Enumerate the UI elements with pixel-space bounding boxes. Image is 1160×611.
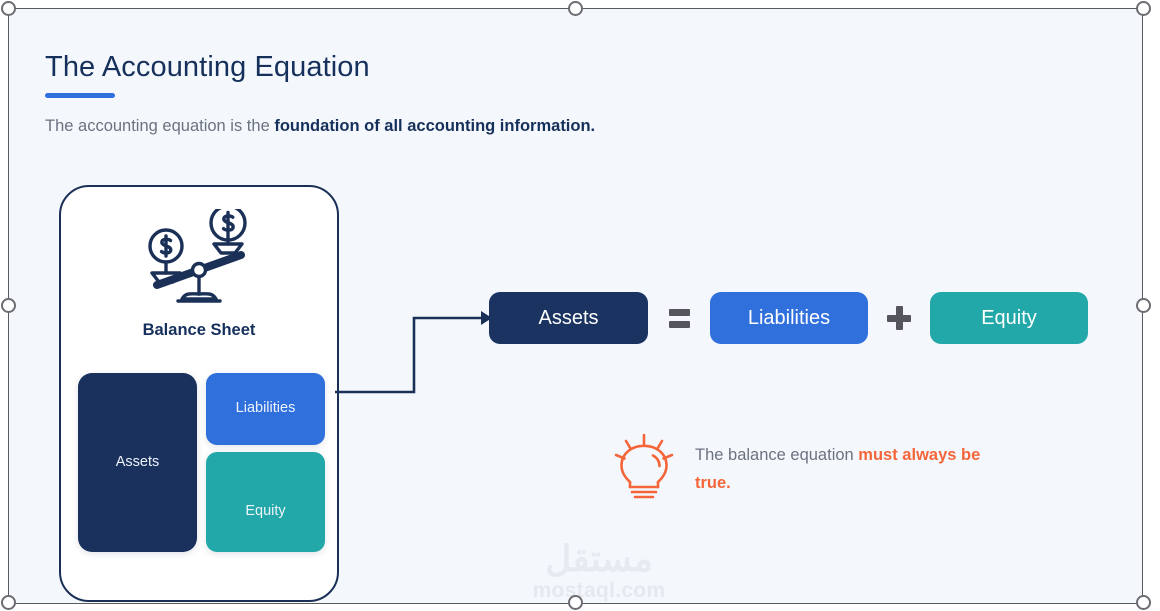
page-title[interactable]: The Accounting Equation <box>45 51 370 84</box>
selection-handle-middle-left[interactable] <box>1 298 16 313</box>
selection-handle-bottom-left[interactable] <box>1 595 16 610</box>
equation-term-assets-label: Assets <box>538 307 598 330</box>
balance-box-assets[interactable]: Assets <box>78 373 197 552</box>
subtitle-plain-text: The accounting equation is the <box>45 117 274 135</box>
balance-box-equity-label: Equity <box>245 503 285 519</box>
subtitle-bold-text: foundation of all accounting information… <box>274 117 595 135</box>
equation-term-equity[interactable]: Equity <box>930 292 1088 344</box>
subtitle[interactable]: The accounting equation is the foundatio… <box>45 117 595 136</box>
balance-scale-coins-icon <box>144 209 254 314</box>
plus-icon <box>887 306 911 330</box>
watermark-arabic: مستقل <box>504 539 694 579</box>
selection-handle-bottom-right[interactable] <box>1136 595 1151 610</box>
balance-box-liabilities[interactable]: Liabilities <box>206 373 325 445</box>
balance-box-assets-label: Assets <box>116 454 160 470</box>
title-underline-accent <box>45 93 115 98</box>
selection-handle-bottom-center[interactable] <box>568 595 583 610</box>
balance-card-title: Balance Sheet <box>61 321 337 340</box>
tip-note[interactable]: The balance equation must always be true… <box>613 429 1015 506</box>
slide-canvas: The Accounting Equation The accounting e… <box>0 0 1160 611</box>
selection-handle-middle-right[interactable] <box>1136 298 1151 313</box>
tip-text-plain: The balance equation <box>695 446 858 464</box>
equation-term-liabilities[interactable]: Liabilities <box>710 292 868 344</box>
slide-surface[interactable]: The Accounting Equation The accounting e… <box>8 8 1143 604</box>
selection-handle-top-center[interactable] <box>568 1 583 16</box>
equals-operator <box>648 309 710 328</box>
selection-handle-top-right[interactable] <box>1136 1 1151 16</box>
watermark: مستقل mostaql.com <box>504 539 694 603</box>
equals-icon <box>669 309 690 328</box>
accounting-equation-row: Assets Liabilities Equity <box>489 292 1088 344</box>
plus-operator <box>868 306 930 330</box>
tip-text: The balance equation must always be true… <box>695 441 1015 497</box>
lightbulb-icon <box>613 433 675 506</box>
elbow-arrow-connector[interactable] <box>335 304 500 404</box>
balance-box-liabilities-label: Liabilities <box>236 400 296 416</box>
balance-sheet-card[interactable]: Balance Sheet Assets Liabilities Equity <box>59 185 339 602</box>
selection-handle-top-left[interactable] <box>1 1 16 16</box>
equation-term-assets[interactable]: Assets <box>489 292 648 344</box>
equation-term-liabilities-label: Liabilities <box>748 307 830 330</box>
balance-box-equity[interactable]: Equity <box>206 452 325 552</box>
watermark-latin: mostaql.com <box>504 579 694 603</box>
equation-term-equity-label: Equity <box>981 307 1037 330</box>
